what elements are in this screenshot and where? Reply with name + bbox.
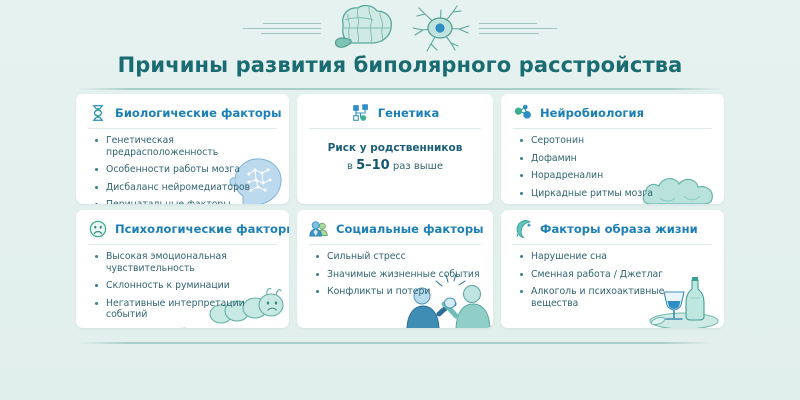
genetics-line-1: Риск у родственников (309, 140, 481, 156)
list-item: Циркадные ритмы мозга (519, 188, 709, 200)
card-title: Генетика (378, 106, 440, 120)
list-item: Серотонин (519, 135, 709, 147)
dna-icon (88, 103, 108, 123)
list-item: Перинатальные факторы (94, 199, 277, 204)
list-item: Норадреналин (519, 170, 709, 182)
card-bullet-list: Генетическая предрасположенность Особенн… (88, 135, 277, 204)
card-title: Факторы образа жизни (540, 222, 698, 236)
list-item: Особенности работы мозга (94, 164, 277, 176)
card-neurobiology[interactable]: Нейробиология Серотонин Дофамин Норадрен… (501, 94, 724, 204)
brain-illustration (321, 2, 401, 54)
genetics-statement: Риск у родственников в 5–10 раз выше (309, 135, 481, 176)
list-item: Генетическая предрасположенность (94, 135, 277, 158)
card-genetics[interactable]: Генетика Риск у родственников в 5–10 раз… (297, 94, 493, 204)
card-title: Социальные факторы (336, 222, 484, 236)
card-header: Генетика (309, 103, 481, 129)
list-item: Алкоголь и психоактивные вещества (519, 286, 709, 309)
card-header: Нейробиология (513, 103, 712, 129)
people-icon (309, 219, 329, 239)
divider-bottom (78, 342, 712, 344)
sad-face-icon (88, 219, 108, 239)
card-bullet-list: Серотонин Дофамин Норадреналин Циркадные… (513, 135, 712, 199)
list-item: Нарушение сна (519, 251, 709, 263)
cards-grid: Биологические факторы Генетическая предр… (76, 94, 724, 328)
card-header: Биологические факторы (88, 103, 277, 129)
decorative-rule-left (235, 23, 321, 34)
list-item: Негативные интерпретации событий (94, 298, 277, 321)
molecule-icon (513, 103, 533, 123)
card-title: Нейробиология (540, 106, 644, 120)
card-header: Психологические факторы (88, 219, 277, 245)
decorative-rule-right (479, 23, 565, 34)
list-item: Значимые жизненные события (315, 269, 481, 281)
card-title: Биологические факторы (115, 106, 282, 120)
card-social[interactable]: Социальные факторы Сильный стресс Значим… (297, 210, 493, 328)
list-item: Дофамин (519, 153, 709, 165)
crescent-moon-icon (513, 219, 533, 239)
list-item: Конфликты и потери (315, 286, 481, 298)
page-title: Причины развития биполярного расстройств… (0, 53, 800, 77)
card-psychological[interactable]: Психологические факторы Высокая эмоциона… (76, 210, 289, 328)
list-item: Сильный стресс (315, 251, 481, 263)
card-bullet-list: Высокая эмоциональная чувствительность С… (88, 251, 277, 328)
genetics-prefix: в (347, 161, 356, 172)
list-item: Сменная работа / Джетлаг (519, 269, 709, 281)
card-bullet-list: Сильный стресс Значимые жизненные событи… (309, 251, 481, 298)
neuron-illustration (401, 2, 479, 54)
list-item: Дисбаланс нейромедиаторов (94, 182, 277, 194)
card-bullet-list: Нарушение сна Сменная работа / Джетлаг А… (513, 251, 712, 309)
card-title: Психологические факторы (115, 222, 289, 236)
card-header: Социальные факторы (309, 219, 481, 245)
pedigree-icon (351, 103, 371, 123)
genetics-suffix: раз выше (390, 161, 443, 172)
card-biological[interactable]: Биологические факторы Генетическая предр… (76, 94, 289, 204)
genetics-value: 5–10 (356, 158, 390, 173)
list-item: Травматический опыт (94, 327, 277, 328)
card-header: Факторы образа жизни (513, 219, 712, 245)
genetics-line-2: в 5–10 раз выше (309, 156, 481, 176)
infographic-page: Причины развития биполярного расстройств… (0, 0, 800, 400)
list-item: Высокая эмоциональная чувствительность (94, 251, 277, 274)
divider-top (78, 88, 722, 90)
list-item: Склонность к руминации (94, 280, 277, 292)
header-artwork (235, 2, 565, 54)
card-lifestyle[interactable]: Факторы образа жизни Нарушение сна Сменн… (501, 210, 724, 328)
header (0, 0, 800, 56)
